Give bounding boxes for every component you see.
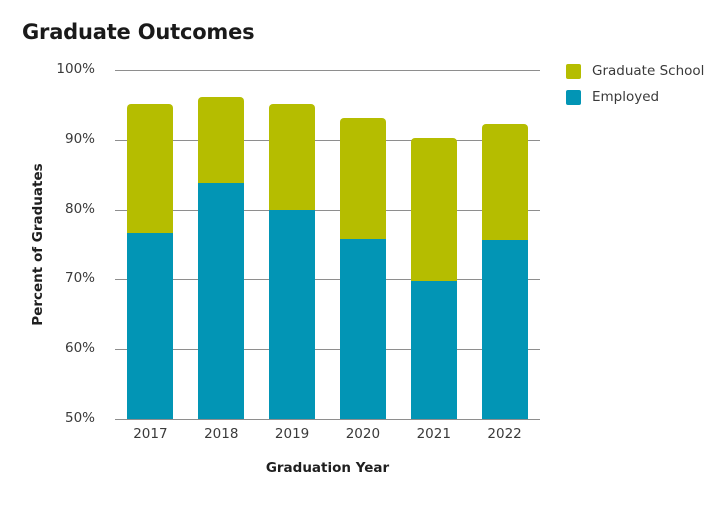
y-tick-label: 100% xyxy=(56,61,95,77)
legend-label: Employed xyxy=(592,89,659,105)
y-tick-label: 80% xyxy=(65,201,95,217)
bar-segment-graduate-school-2022[interactable] xyxy=(482,124,528,239)
legend-swatch-icon xyxy=(566,64,581,79)
bar-group-2021[interactable] xyxy=(411,70,457,419)
y-tick-label: 60% xyxy=(65,340,95,356)
y-axis-ticks: 50%60%70%80%90%100% xyxy=(0,70,115,419)
bar-segment-graduate-school-2020[interactable] xyxy=(340,118,386,239)
plot-area xyxy=(115,70,540,419)
y-axis-title: Percent of Graduates xyxy=(30,70,46,419)
bar-group-2017[interactable] xyxy=(127,70,173,419)
bar-group-2022[interactable] xyxy=(482,70,528,419)
x-tick-label-2019: 2019 xyxy=(252,426,332,442)
y-tick-label: 50% xyxy=(65,410,95,426)
bar-segment-employed-2020[interactable] xyxy=(340,239,386,419)
chart-title: Graduate Outcomes xyxy=(22,20,254,44)
bar-segment-employed-2019[interactable] xyxy=(269,210,315,419)
y-tick-label: 90% xyxy=(65,131,95,147)
bar-group-2018[interactable] xyxy=(198,70,244,419)
bar-segment-employed-2021[interactable] xyxy=(411,281,457,419)
x-tick-label-2021: 2021 xyxy=(394,426,474,442)
bar-group-2019[interactable] xyxy=(269,70,315,419)
bar-segment-graduate-school-2018[interactable] xyxy=(198,97,244,183)
x-axis-title: Graduation Year xyxy=(115,460,540,476)
chart-container: Graduate Outcomes 50%60%70%80%90%100% Pe… xyxy=(0,0,720,506)
bar-group-2020[interactable] xyxy=(340,70,386,419)
legend-label: Graduate School xyxy=(592,63,704,79)
legend-item-employed[interactable]: Employed xyxy=(566,86,704,108)
legend-swatch-icon xyxy=(566,90,581,105)
gridline-100 xyxy=(115,70,540,71)
bar-segment-employed-2017[interactable] xyxy=(127,233,173,419)
bar-segment-graduate-school-2021[interactable] xyxy=(411,138,457,281)
bar-segment-employed-2018[interactable] xyxy=(198,183,244,419)
x-tick-label-2020: 2020 xyxy=(323,426,403,442)
bar-segment-graduate-school-2019[interactable] xyxy=(269,104,315,210)
bar-segment-employed-2022[interactable] xyxy=(482,240,528,419)
gridline-60 xyxy=(115,349,540,350)
chart-legend: Graduate SchoolEmployed xyxy=(566,60,704,112)
gridline-70 xyxy=(115,279,540,280)
x-tick-label-2022: 2022 xyxy=(465,426,545,442)
gridline-80 xyxy=(115,210,540,211)
x-tick-label-2018: 2018 xyxy=(181,426,261,442)
bar-segment-graduate-school-2017[interactable] xyxy=(127,104,173,232)
x-tick-label-2017: 2017 xyxy=(110,426,190,442)
gridline-50 xyxy=(115,419,540,420)
y-tick-label: 70% xyxy=(65,270,95,286)
gridline-90 xyxy=(115,140,540,141)
legend-item-graduate-school[interactable]: Graduate School xyxy=(566,60,704,82)
